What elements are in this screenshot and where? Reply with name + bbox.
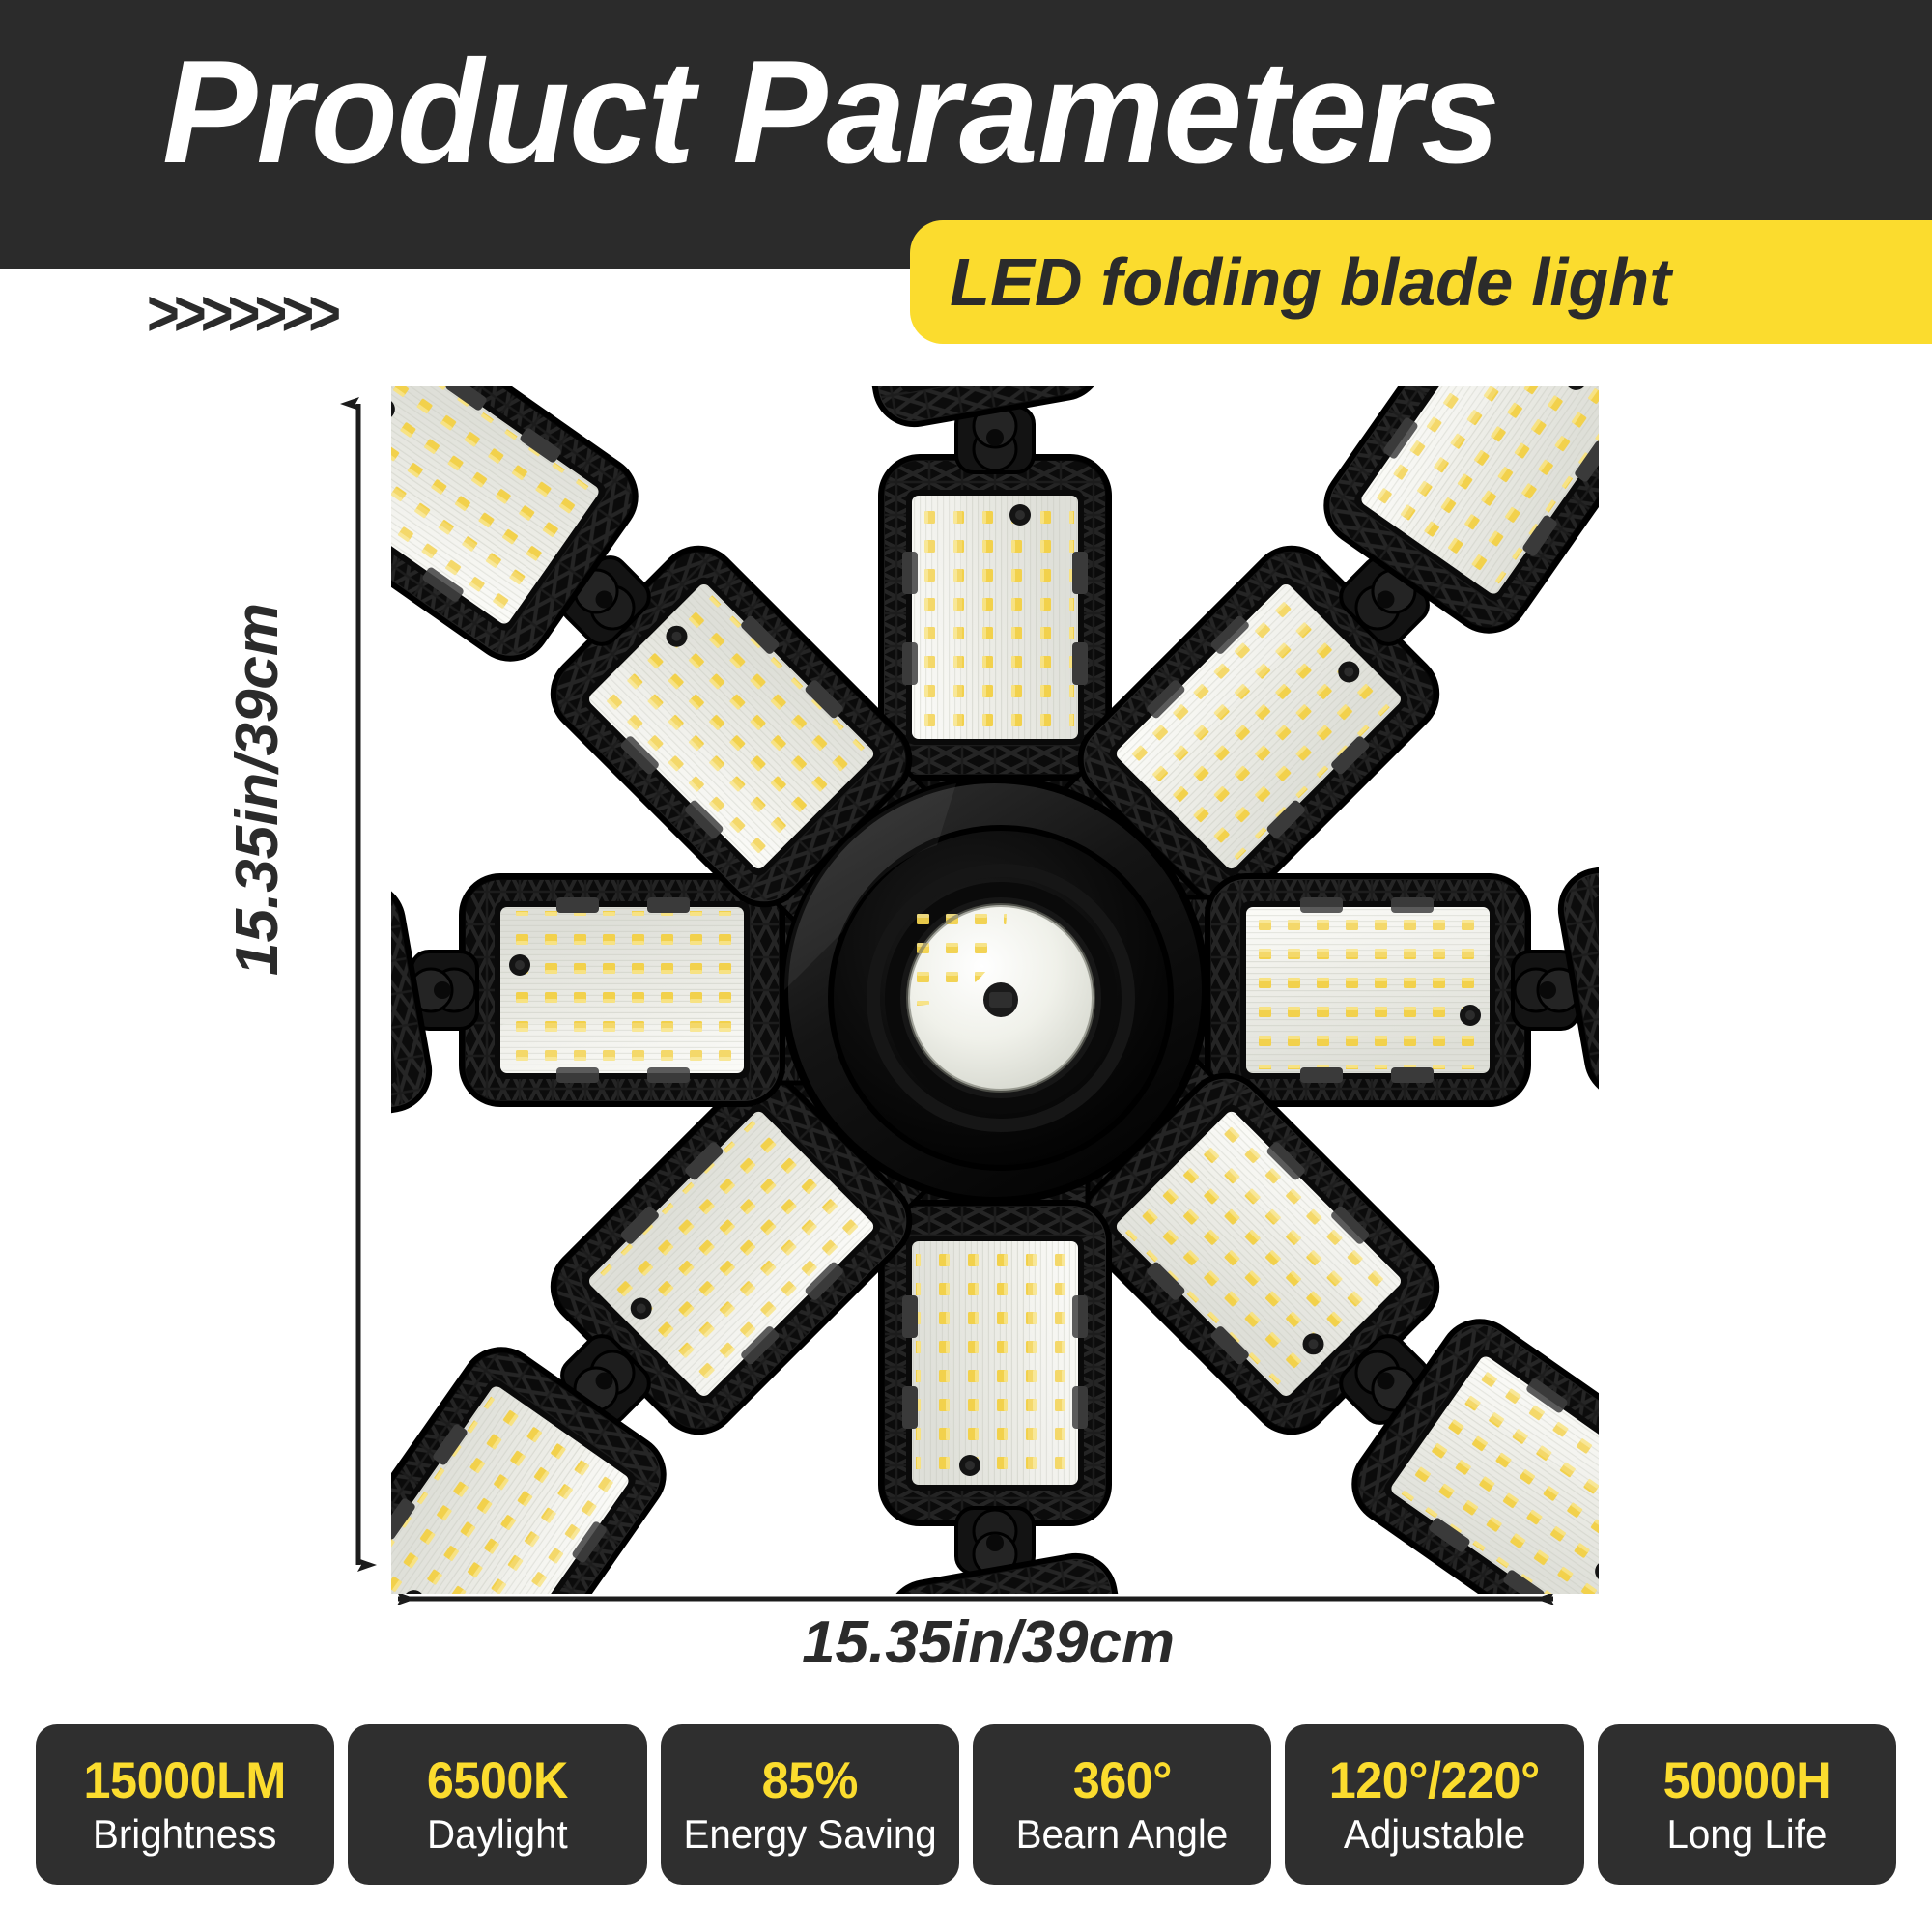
subtitle-text: LED folding blade light (910, 243, 1671, 321)
badge-label: Bearn Angle (1016, 1811, 1229, 1858)
page-title: Product Parameters (162, 39, 1499, 185)
lamp-hub (784, 780, 1206, 1201)
badge-brightness[interactable]: 15000LM Brightness (36, 1724, 334, 1885)
badge-value: 360° (1073, 1755, 1172, 1807)
badge-beam-angle[interactable]: 360° Bearn Angle (973, 1724, 1271, 1885)
badge-label: Long Life (1666, 1811, 1827, 1858)
badge-adjustable[interactable]: 120°/220° Adjustable (1285, 1724, 1583, 1885)
badge-label: Adjustable (1344, 1811, 1525, 1858)
badge-daylight[interactable]: 6500K Daylight (348, 1724, 646, 1885)
feature-badges-row: 15000LM Brightness 6500K Daylight 85% En… (36, 1724, 1896, 1885)
badge-value: 50000H (1663, 1755, 1832, 1807)
badge-value: 85% (762, 1755, 858, 1807)
chevron-decor-icon: >>>>>>> (147, 276, 335, 351)
lamp-arms (391, 386, 1599, 1594)
dimension-label-width: 15.35in/39cm (802, 1608, 1175, 1677)
lamp-illustration (391, 386, 1599, 1594)
product-image-led-folding-blade-light (391, 386, 1599, 1594)
badge-value: 15000LM (84, 1755, 286, 1807)
badge-long-life[interactable]: 50000H Long Life (1598, 1724, 1896, 1885)
badge-label: Daylight (427, 1811, 568, 1858)
badge-value: 6500K (427, 1755, 568, 1807)
subtitle-banner: LED folding blade light (910, 220, 1932, 344)
badge-label: Energy Saving (683, 1811, 936, 1858)
badge-value: 120°/220° (1329, 1755, 1540, 1807)
dimension-label-height: 15.35in/39cm (223, 473, 292, 976)
badge-label: Brightness (93, 1811, 277, 1858)
badge-energy-saving[interactable]: 85% Energy Saving (661, 1724, 959, 1885)
